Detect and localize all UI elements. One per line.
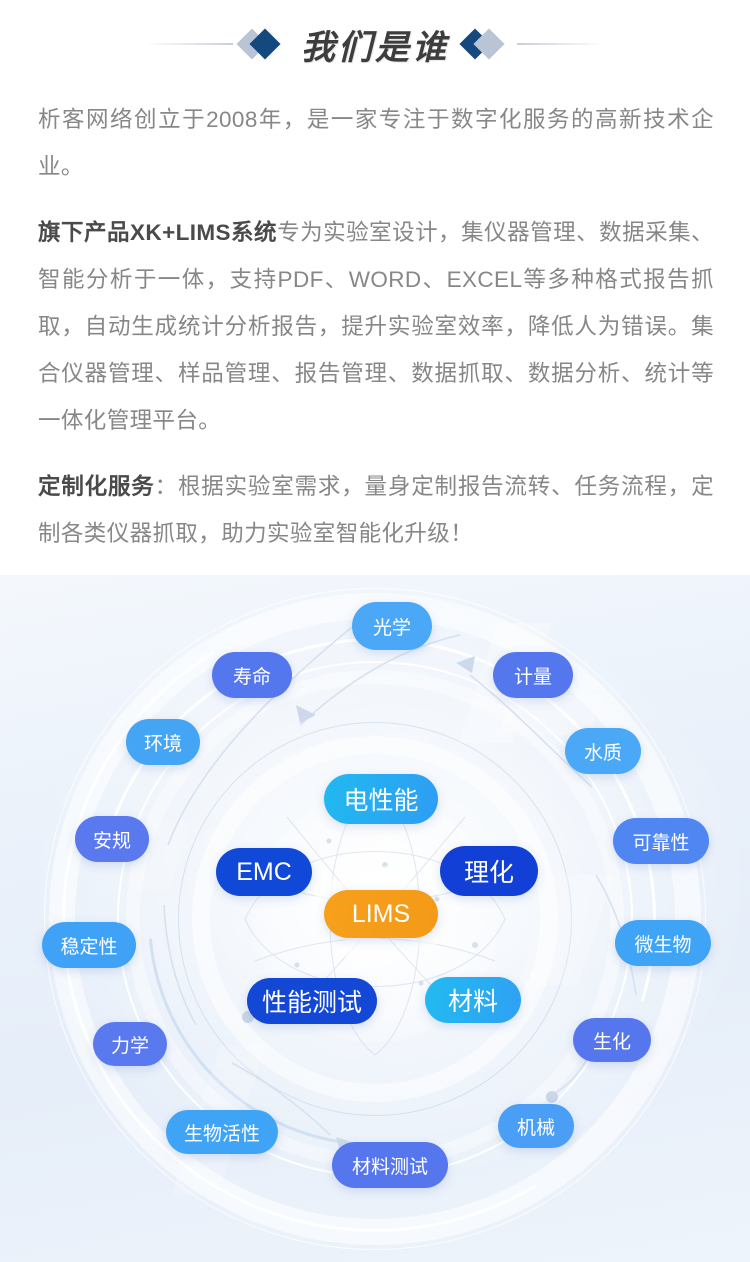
tag-chip[interactable]: 生物活性 (166, 1110, 278, 1154)
tag-cloud-section: 光学寿命计量环境水质电性能安规可靠性EMC理化LIMS稳定性微生物性能测试材料生… (0, 575, 750, 1262)
tag-chip[interactable]: 材料 (425, 977, 521, 1023)
tag-chip[interactable]: 理化 (440, 846, 538, 896)
header-rule-right (517, 43, 605, 45)
section-header: 我们是谁 (0, 0, 750, 88)
header-rule-left (145, 43, 233, 45)
paragraph-product-text: 专为实验室设计，集仪器管理、数据采集、智能分析于一体，支持PDF、WORD、EX… (38, 220, 714, 433)
tag-chip[interactable]: 微生物 (615, 920, 711, 966)
tag-chip[interactable]: 材料测试 (332, 1142, 448, 1188)
tag-chip[interactable]: EMC (216, 848, 312, 896)
tag-chip[interactable]: 环境 (126, 719, 200, 765)
paragraph-intro-text: 析客网络创立于2008年，是一家专注于数字化服务的高新技术企业。 (38, 107, 714, 179)
tag-chip[interactable]: 电性能 (324, 774, 438, 824)
paragraph-product-bold: 旗下产品XK+LIMS系统 (38, 220, 277, 245)
tag-chip[interactable]: 计量 (493, 652, 573, 698)
tag-chip[interactable]: 可靠性 (613, 818, 709, 864)
tag-chip[interactable]: 稳定性 (42, 922, 136, 968)
paragraph-intro: 析客网络创立于2008年，是一家专注于数字化服务的高新技术企业。 (38, 96, 714, 190)
diamond-ornament-left-icon (233, 24, 295, 64)
tag-chip[interactable]: 光学 (352, 602, 432, 650)
tag-chip[interactable]: 水质 (565, 728, 641, 774)
page-title: 我们是谁 (295, 20, 455, 69)
tag-chip[interactable]: 性能测试 (247, 978, 377, 1024)
tag-chip[interactable]: LIMS (324, 890, 438, 938)
tag-chip[interactable]: 寿命 (212, 652, 292, 698)
tag-chip[interactable]: 机械 (498, 1104, 574, 1148)
company-description: 析客网络创立于2008年，是一家专注于数字化服务的高新技术企业。 旗下产品XK+… (38, 96, 714, 557)
paragraph-custom: 定制化服务：根据实验室需求，量身定制报告流转、任务流程，定制各类仪器抓取，助力实… (38, 463, 714, 557)
tag-chip[interactable]: 安规 (75, 816, 149, 862)
tag-chip[interactable]: 生化 (573, 1018, 651, 1062)
tag-chip[interactable]: 力学 (93, 1022, 167, 1066)
page-root: 我们是谁 析客网络创立于2008年，是一家专注于数字化服务的高新技术企业。 旗下… (0, 0, 750, 1262)
diamond-ornament-right-icon (455, 24, 517, 64)
paragraph-product: 旗下产品XK+LIMS系统专为实验室设计，集仪器管理、数据采集、智能分析于一体，… (38, 209, 714, 444)
paragraph-custom-bold: 定制化服务 (38, 474, 155, 499)
